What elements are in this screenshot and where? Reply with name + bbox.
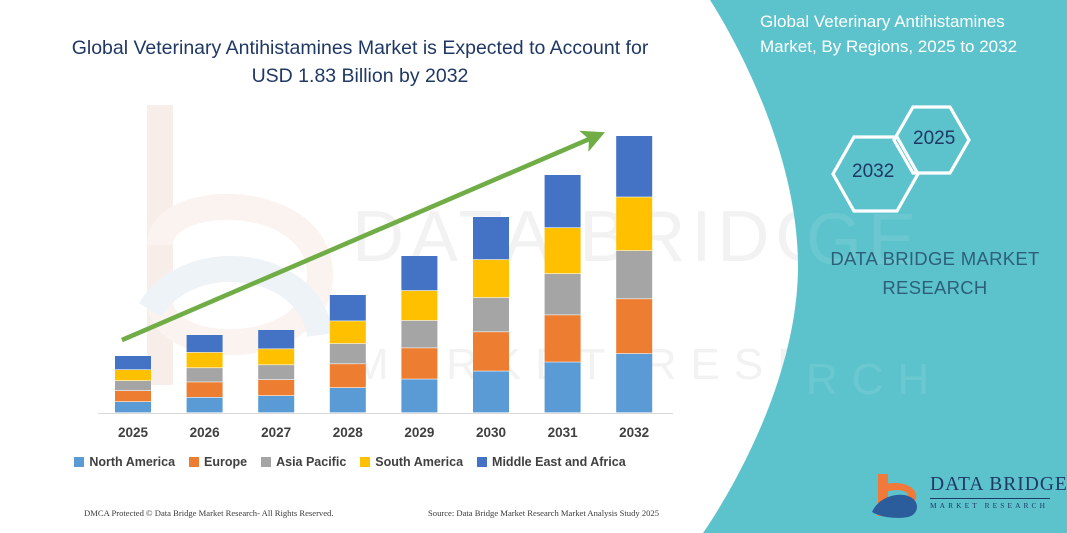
legend-item[interactable]: North America xyxy=(74,455,175,469)
bar-segment xyxy=(473,371,509,412)
x-axis-label: 2027 xyxy=(241,425,311,440)
x-axis-label: 2030 xyxy=(456,425,526,440)
footer-source: Source: Data Bridge Market Research Mark… xyxy=(428,508,659,518)
x-axis-label: 2026 xyxy=(170,425,240,440)
legend-swatch-icon xyxy=(360,457,370,467)
svg-text:RCH: RCH xyxy=(806,355,943,404)
databridge-logo-subtitle: MARKET RESEARCH xyxy=(930,501,1048,510)
legend-label: Middle East and Africa xyxy=(492,455,626,469)
infographic-canvas: DATA BRIDGE MARKET RESEARCH GE RCH Globa… xyxy=(0,0,1067,533)
legend-swatch-icon xyxy=(189,457,199,467)
bar-segment xyxy=(330,321,366,343)
x-axis-label: 2028 xyxy=(313,425,383,440)
bar-segment xyxy=(616,299,652,353)
bar-segment xyxy=(330,388,366,412)
panel-brand-text: DATA BRIDGE MARKET RESEARCH xyxy=(790,244,1067,302)
bar-segment xyxy=(545,274,581,315)
bar-segment xyxy=(616,354,652,413)
legend-item[interactable]: South America xyxy=(360,455,463,469)
legend-label: North America xyxy=(89,455,175,469)
bar-segment xyxy=(401,256,437,290)
stacked-bar-chart xyxy=(0,0,700,533)
bar-segment xyxy=(115,356,151,369)
chart-legend: North AmericaEuropeAsia PacificSouth Ame… xyxy=(0,455,700,469)
bar-segment xyxy=(258,365,294,379)
databridge-logo: DATA BRIDGE MARKET RESEARCH xyxy=(868,470,1058,522)
bar-segment xyxy=(616,136,652,197)
panel-title: Global Veterinary Antihistamines Market,… xyxy=(760,9,1050,59)
bar-segment xyxy=(401,291,437,320)
bar-segment xyxy=(616,251,652,299)
bar-segment xyxy=(258,349,294,364)
legend-label: South America xyxy=(375,455,463,469)
legend-item[interactable]: Middle East and Africa xyxy=(477,455,626,469)
bar-segment xyxy=(473,298,509,332)
bar-segment xyxy=(545,362,581,412)
bar-segment xyxy=(258,330,294,349)
bar-segment xyxy=(473,332,509,371)
hexagon-2025-label: 2025 xyxy=(913,128,955,150)
bar-segment xyxy=(401,379,437,412)
bar-segment xyxy=(401,348,437,379)
bar-segment xyxy=(115,402,151,412)
legend-swatch-icon xyxy=(261,457,271,467)
bar-segment xyxy=(545,228,581,273)
x-axis-label: 2031 xyxy=(528,425,598,440)
footer-copyright: DMCA Protected © Data Bridge Market Rese… xyxy=(84,508,334,518)
legend-item[interactable]: Europe xyxy=(189,455,247,469)
legend-item[interactable]: Asia Pacific xyxy=(261,455,346,469)
bar-segment xyxy=(258,380,294,395)
bar-segment xyxy=(330,364,366,387)
bar-segment xyxy=(115,381,151,390)
hexagon-pair xyxy=(810,98,1020,216)
bars-group xyxy=(115,136,652,412)
x-axis-label: 2029 xyxy=(384,425,454,440)
legend-swatch-icon xyxy=(74,457,84,467)
bar-segment xyxy=(187,382,223,397)
hexagon-2032-label: 2032 xyxy=(852,161,894,183)
bar-segment xyxy=(616,197,652,250)
x-axis-label: 2032 xyxy=(599,425,669,440)
bar-segment xyxy=(187,353,223,368)
bar-segment xyxy=(473,217,509,259)
x-axis-line xyxy=(98,413,673,414)
bar-segment xyxy=(401,321,437,348)
legend-label: Europe xyxy=(204,455,247,469)
bar-segment xyxy=(187,368,223,382)
bar-segment xyxy=(545,175,581,227)
databridge-logo-mark xyxy=(868,470,926,520)
legend-label: Asia Pacific xyxy=(276,455,346,469)
bar-segment xyxy=(473,260,509,297)
databridge-logo-title: DATA BRIDGE xyxy=(930,474,1067,496)
bar-segment xyxy=(545,315,581,362)
bar-segment xyxy=(187,398,223,413)
bar-segment xyxy=(115,370,151,380)
bar-segment xyxy=(187,335,223,352)
bar-segment xyxy=(115,391,151,401)
bar-segment xyxy=(258,396,294,412)
bar-segment xyxy=(330,295,366,321)
databridge-logo-rule xyxy=(930,498,1050,499)
legend-swatch-icon xyxy=(477,457,487,467)
x-axis-label: 2025 xyxy=(98,425,168,440)
bar-segment xyxy=(330,344,366,364)
